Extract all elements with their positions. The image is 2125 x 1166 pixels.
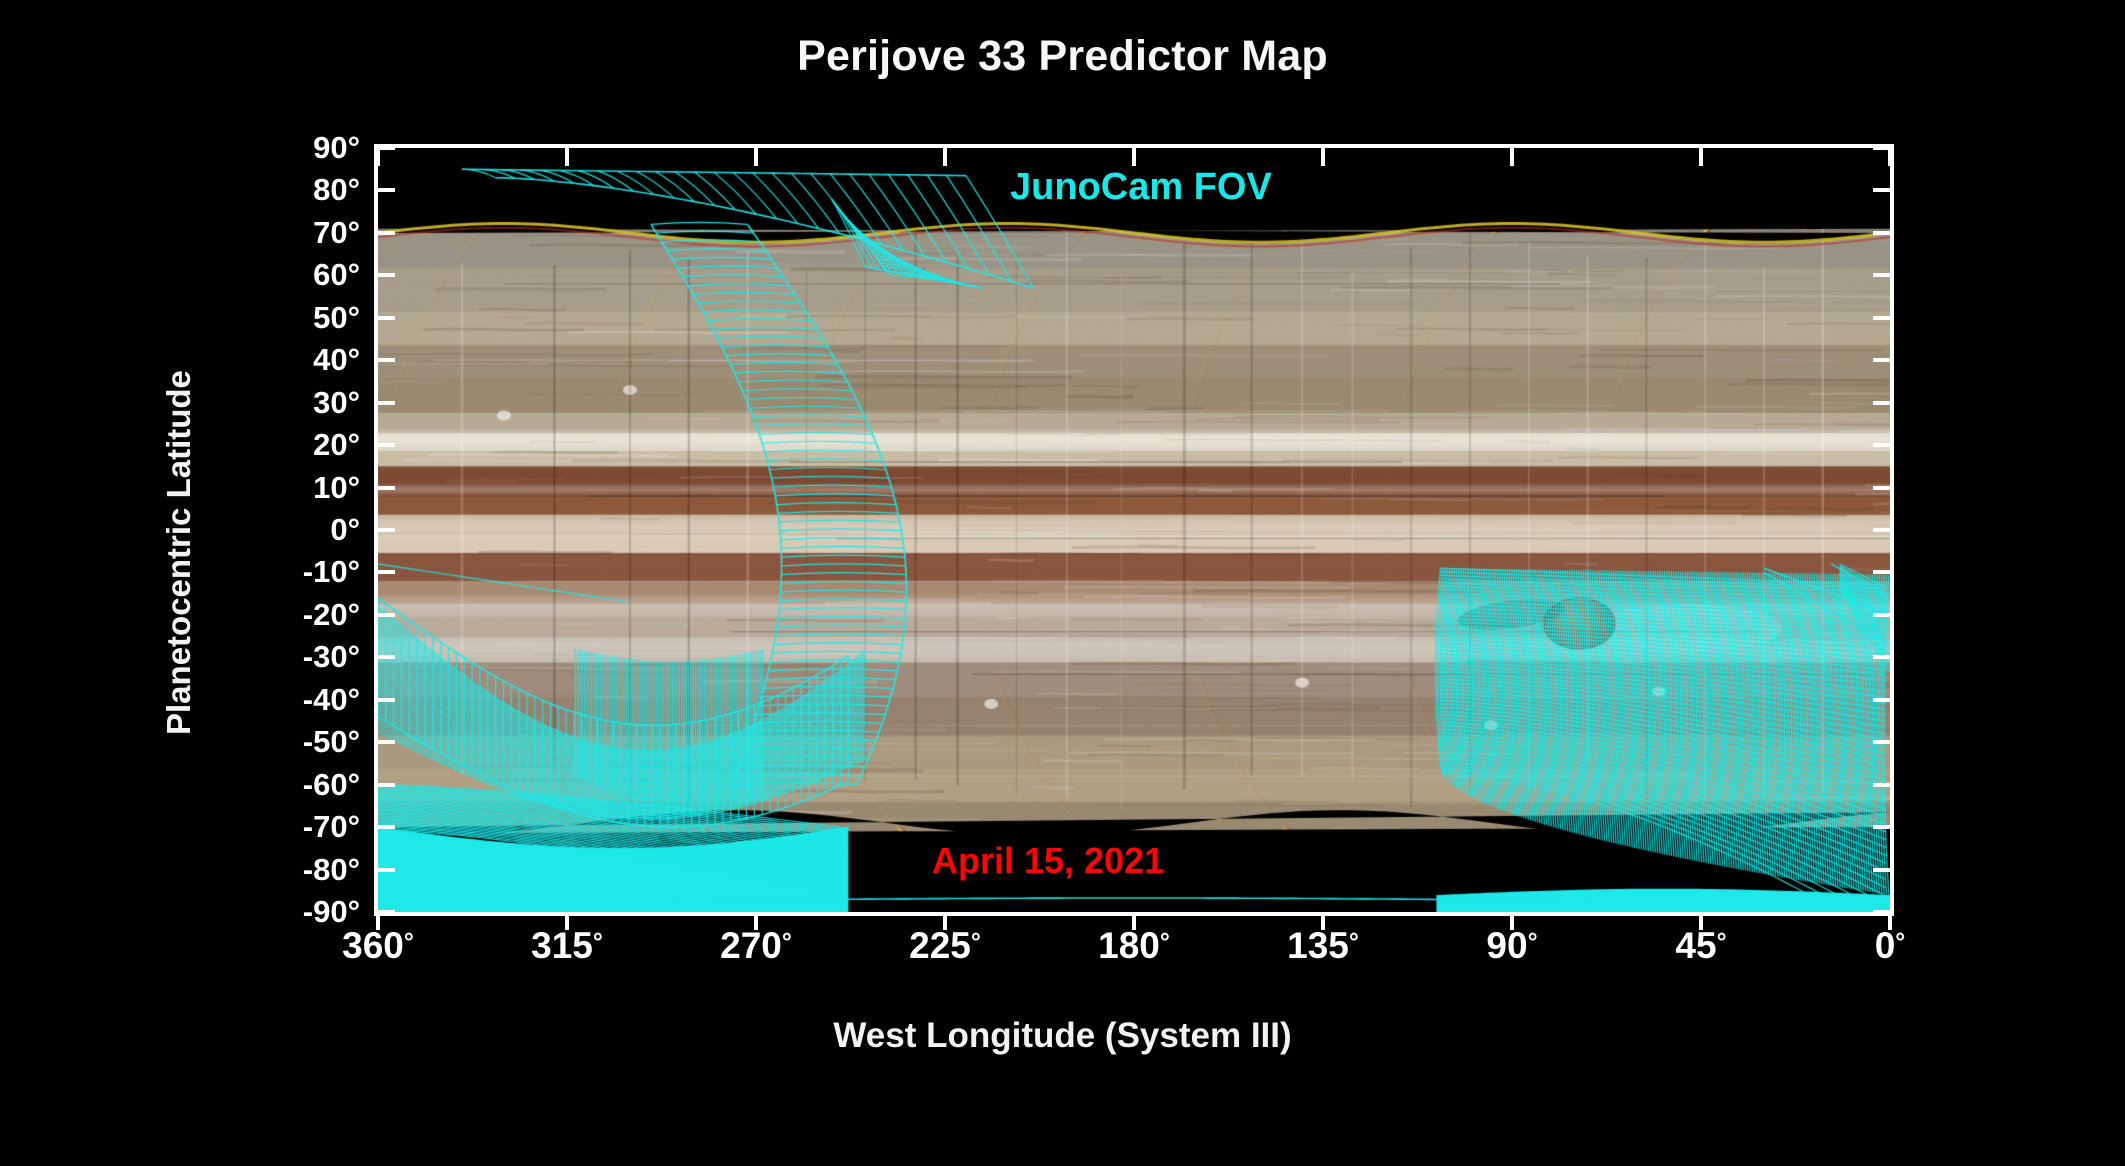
x-tick-label: 90° (1486, 925, 1537, 967)
y-tick-mark (378, 655, 395, 659)
y-tick-label: -50° (303, 724, 360, 760)
y-tick-mark-right (1873, 443, 1890, 447)
x-tick-mark-top (1321, 148, 1325, 166)
perijove-predictor-map-figure: Perijove 33 Predictor Map JunoCam FOV Ap… (0, 0, 2125, 1166)
x-tick-label: 135° (1287, 925, 1359, 967)
y-tick-label: 0° (330, 512, 360, 548)
y-tick-mark (378, 570, 395, 574)
y-tick-mark-right (1873, 231, 1890, 235)
y-tick-mark-right (1873, 570, 1890, 574)
y-tick-label: -40° (303, 682, 360, 718)
y-tick-label: 20° (313, 427, 360, 463)
y-tick-mark-right (1873, 528, 1890, 532)
y-tick-label: -20° (303, 597, 360, 633)
y-tick-label: -70° (303, 809, 360, 845)
y-tick-label: -10° (303, 554, 360, 590)
y-tick-mark (378, 868, 395, 872)
y-tick-mark-right (1873, 783, 1890, 787)
y-tick-mark (378, 910, 395, 914)
y-tick-mark-right (1873, 825, 1890, 829)
y-tick-mark (378, 401, 395, 405)
x-tick-mark (754, 912, 758, 930)
x-tick-label: 360° (342, 925, 414, 967)
y-tick-mark (378, 443, 395, 447)
y-tick-mark (378, 231, 395, 235)
x-tick-mark-top (376, 148, 380, 166)
map-plot-area[interactable] (378, 148, 1890, 912)
x-tick-mark-top (1888, 148, 1892, 166)
x-tick-mark-top (1132, 148, 1136, 166)
x-tick-mark-top (1510, 148, 1514, 166)
y-tick-label: 70° (313, 215, 360, 251)
y-tick-label: 80° (313, 172, 360, 208)
y-tick-mark (378, 273, 395, 277)
y-tick-mark (378, 783, 395, 787)
y-tick-mark-right (1873, 188, 1890, 192)
y-tick-mark (378, 358, 395, 362)
x-tick-mark (1888, 912, 1892, 930)
x-tick-mark-top (754, 148, 758, 166)
x-tick-mark (1699, 912, 1703, 930)
y-tick-mark-right (1873, 740, 1890, 744)
x-tick-label: 180° (1098, 925, 1170, 967)
y-tick-mark (378, 146, 395, 150)
y-axis-title: Planetocentric Latitude (160, 370, 198, 735)
y-tick-mark-right (1873, 613, 1890, 617)
x-tick-label: 315° (531, 925, 603, 967)
y-tick-mark-right (1873, 655, 1890, 659)
x-tick-mark (565, 912, 569, 930)
y-tick-label: 10° (313, 470, 360, 506)
y-tick-label: -80° (303, 852, 360, 888)
x-tick-mark-top (943, 148, 947, 166)
x-tick-label: 225° (909, 925, 981, 967)
y-tick-mark-right (1873, 358, 1890, 362)
y-tick-mark-right (1873, 316, 1890, 320)
junocam-fov-legend-label: JunoCam FOV (1010, 166, 1272, 209)
y-tick-label: 40° (313, 342, 360, 378)
y-tick-label: -30° (303, 639, 360, 675)
y-tick-mark (378, 613, 395, 617)
y-tick-mark (378, 188, 395, 192)
y-tick-label: 90° (313, 130, 360, 166)
x-tick-mark (1321, 912, 1325, 930)
y-tick-label: -60° (303, 767, 360, 803)
x-tick-mark (376, 912, 380, 930)
y-tick-label: 30° (313, 385, 360, 421)
x-tick-mark (1510, 912, 1514, 930)
observation-date-label: April 15, 2021 (932, 840, 1164, 882)
y-tick-mark (378, 740, 395, 744)
y-tick-label: 50° (313, 300, 360, 336)
x-tick-label: 270° (720, 925, 792, 967)
x-tick-mark (1132, 912, 1136, 930)
page-title: Perijove 33 Predictor Map (0, 32, 2125, 81)
x-tick-mark (943, 912, 947, 930)
y-tick-mark-right (1873, 486, 1890, 490)
y-tick-mark-right (1873, 401, 1890, 405)
junocam-fov-overlay-canvas (378, 148, 1890, 912)
x-tick-mark-top (565, 148, 569, 166)
x-axis-title: West Longitude (System III) (0, 1016, 2125, 1056)
x-tick-label: 45° (1675, 925, 1726, 967)
y-tick-mark (378, 825, 395, 829)
y-tick-mark-right (1873, 273, 1890, 277)
y-tick-mark (378, 486, 395, 490)
y-tick-mark (378, 528, 395, 532)
y-tick-mark-right (1873, 698, 1890, 702)
y-tick-label: 60° (313, 257, 360, 293)
y-tick-mark-right (1873, 868, 1890, 872)
y-tick-mark (378, 316, 395, 320)
y-tick-mark (378, 698, 395, 702)
x-tick-label: 0° (1875, 925, 1906, 967)
x-tick-mark-top (1699, 148, 1703, 166)
